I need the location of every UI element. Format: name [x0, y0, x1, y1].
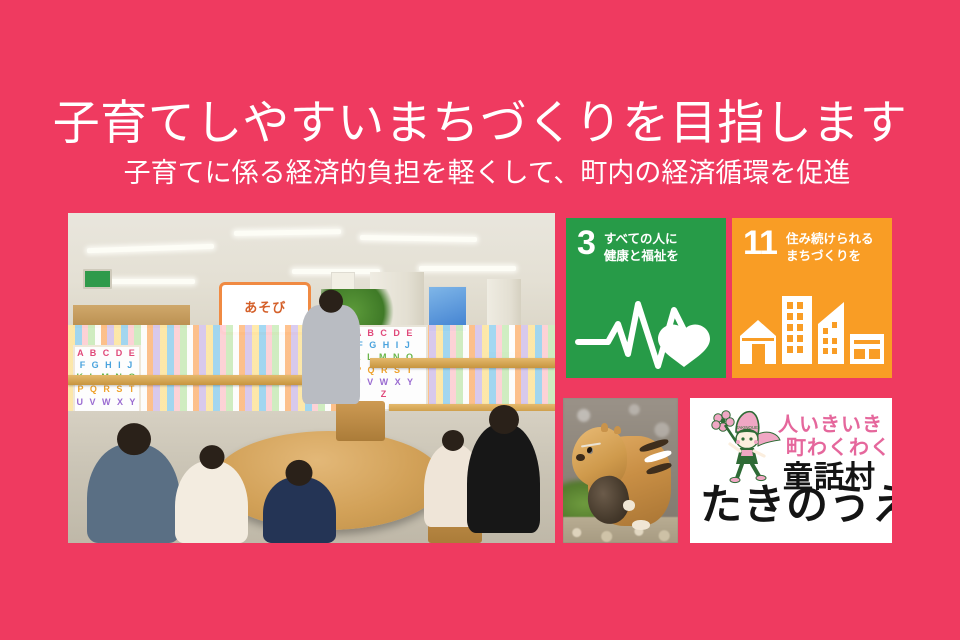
sdg-3-label: すべての人に 健康と福祉を	[604, 229, 679, 264]
sdg-3-label-line2: 健康と福祉を	[604, 248, 679, 265]
heartbeat-icon	[566, 280, 726, 372]
chair	[336, 401, 385, 441]
sdg-3-header: 3 すべての人に 健康と福祉を	[566, 218, 726, 264]
sdg-11-header: 11 住み続けられる まちづくりを	[732, 218, 892, 264]
sdg-11-label-line2: まちづくりを	[786, 248, 874, 265]
logo-name-main: たきのうえ	[700, 484, 892, 526]
city-buildings-icon	[732, 280, 892, 372]
child-person	[175, 461, 248, 544]
town-logo-takinoue: TAKINOUE 人いきいき 町わくわく 童話村 たきのうえ	[690, 398, 892, 543]
exit-sign-icon	[83, 269, 112, 289]
chipmunk-paw	[632, 520, 650, 530]
alphabet-row: U V W X Y	[75, 396, 139, 408]
chipmunk-ear	[614, 426, 621, 435]
staff-person	[302, 305, 360, 404]
mascot-fairy-icon: TAKINOUE	[706, 406, 786, 486]
chipmunk-photo	[563, 398, 678, 543]
sdg-11-number: 11	[743, 229, 777, 259]
asobi-sign-text: あそび	[244, 301, 286, 316]
alphabet-row: P Q R S T	[75, 383, 139, 395]
alphabet-row: A B C D E	[75, 347, 139, 359]
page-subtitle: 子育てに係る経済的負担を軽くして、町内の経済循環を促進	[0, 157, 960, 189]
child-person	[263, 477, 336, 543]
adult-person	[467, 424, 540, 533]
chipmunk-ear	[601, 423, 608, 432]
sdg-11-label: 住み続けられる まちづくりを	[786, 229, 874, 264]
page-title: 子育てしやすいまちづくりを目指します	[0, 96, 960, 150]
poster-root: { "page": { "background_color": "#ef3a60…	[0, 0, 960, 640]
chipmunk-eye	[587, 447, 593, 454]
shelf-rail	[68, 375, 341, 385]
adult-person	[87, 444, 180, 543]
shelf-rail	[370, 358, 555, 368]
alphabet-row: F G H I J	[75, 359, 139, 371]
sdg-badge-11: 11 住み続けられる まちづくりを	[732, 218, 892, 378]
ceiling-light	[419, 266, 516, 271]
sdg-3-number: 3	[577, 229, 595, 259]
headline-block: 子育てしやすいまちづくりを目指します 子育てに係る経済的負担を軽くして、町内の経…	[0, 96, 960, 189]
chipmunk-nose	[576, 454, 585, 461]
sdg-3-label-line1: すべての人に	[604, 231, 679, 248]
main-photo-library: あそび A B C D E F G H I J K L M N O P Q R …	[68, 213, 555, 543]
sdg-11-label-line1: 住み続けられる	[786, 231, 874, 248]
sdg-badge-3: 3 すべての人に 健康と福祉を	[566, 218, 726, 378]
